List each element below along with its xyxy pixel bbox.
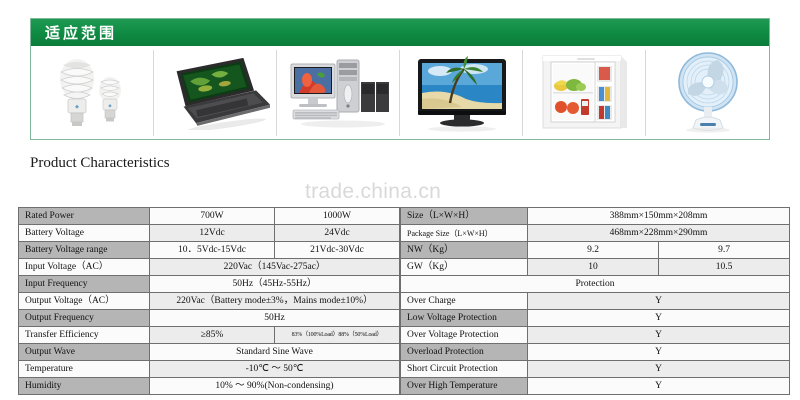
row-value: 9.7 bbox=[659, 242, 790, 259]
banner-title: 适应范围 bbox=[45, 22, 117, 43]
row-value: Standard Sine Wave bbox=[150, 344, 400, 361]
row-value: Y bbox=[528, 361, 790, 378]
table-row: Low Voltage ProtectionY bbox=[401, 310, 790, 327]
desktop-pc-icon bbox=[281, 52, 397, 134]
row-value: 1000W bbox=[275, 208, 400, 225]
row-value: 10% ～ 90%(Non-condensing) bbox=[150, 378, 400, 395]
table-row: Over Voltage ProtectionY bbox=[401, 327, 790, 344]
table-row: Input Frequency50Hz（45Hz-55Hz） bbox=[19, 276, 400, 293]
row-label: Package Size（L×W×H） bbox=[401, 225, 528, 242]
row-label: Battery Voltage bbox=[19, 225, 150, 242]
table-row: Temperature-10℃ ～ 50℃ bbox=[19, 361, 400, 378]
row-value: 10.5 bbox=[659, 259, 790, 276]
table-row: Output WaveStandard Sine Wave bbox=[19, 344, 400, 361]
row-label: Over Charge bbox=[401, 293, 528, 310]
product-image-refrigerator bbox=[523, 46, 646, 140]
row-value: 468mm×228mm×290mm bbox=[528, 225, 790, 242]
row-label: Overload Protection bbox=[401, 344, 528, 361]
row-value: 10．5Vdc-15Vdc bbox=[150, 242, 275, 259]
left-spec-table: Rated Power700W1000WBattery Voltage12Vdc… bbox=[18, 207, 400, 395]
row-label: Output Wave bbox=[19, 344, 150, 361]
row-value: 9.2 bbox=[528, 242, 659, 259]
row-value: 220Vac（Battery mode±3%，Mains mode±10%） bbox=[150, 293, 400, 310]
banner-bar: 适应范围 bbox=[31, 19, 769, 46]
row-label: Output Frequency bbox=[19, 310, 150, 327]
table-row: Battery Voltage12Vdc24Vdc bbox=[19, 225, 400, 242]
row-label: Short Circuit Protection bbox=[401, 361, 528, 378]
row-label: Battery Voltage range bbox=[19, 242, 150, 259]
row-value: Y bbox=[528, 310, 790, 327]
product-image-electric-fan bbox=[646, 46, 769, 140]
television-icon bbox=[410, 53, 514, 133]
svg-text:◆: ◆ bbox=[75, 104, 79, 110]
row-label: Over High Temperature bbox=[401, 378, 528, 395]
row-label: Over Voltage Protection bbox=[401, 327, 528, 344]
row-label: Transfer Efficiency bbox=[19, 327, 150, 344]
table-row: NW（Kg）9.29.7 bbox=[401, 242, 790, 259]
row-label: Input Frequency bbox=[19, 276, 150, 293]
page-title: Product Characteristics bbox=[30, 155, 170, 172]
row-value: Y bbox=[528, 378, 790, 395]
table-row: Size（L×W×H）388mm×150mm×208mm bbox=[401, 208, 790, 225]
table-row: Package Size（L×W×H）468mm×228mm×290mm bbox=[401, 225, 790, 242]
svg-text:◆: ◆ bbox=[108, 104, 112, 109]
laptop-icon bbox=[162, 56, 270, 130]
row-label: Humidity bbox=[19, 378, 150, 395]
table-row: Over ChargeY bbox=[401, 293, 790, 310]
table-row: Input Voltage（AC）220Vac（145Vac-275ac） bbox=[19, 259, 400, 276]
table-row: Output Voltage（AC）220Vac（Battery mode±3%… bbox=[19, 293, 400, 310]
right-spec-table: Size（L×W×H）388mm×150mm×208mmPackage Size… bbox=[400, 207, 790, 395]
row-value: 21Vdc-30Vdc bbox=[275, 242, 400, 259]
refrigerator-icon bbox=[537, 52, 633, 134]
table-row: Rated Power700W1000W bbox=[19, 208, 400, 225]
electric-fan-icon bbox=[665, 50, 751, 136]
row-value: ≥85% bbox=[150, 327, 275, 344]
section-header-cell: Protection bbox=[401, 276, 790, 293]
row-value: 50Hz（45Hz-55Hz） bbox=[150, 276, 400, 293]
row-value: Y bbox=[528, 327, 790, 344]
table-row: Output Frequency50Hz bbox=[19, 310, 400, 327]
table-row: Humidity10% ～ 90%(Non-condensing) bbox=[19, 378, 400, 395]
row-value: 50Hz bbox=[150, 310, 400, 327]
row-value: 700W bbox=[150, 208, 275, 225]
table-row: Overload ProtectionY bbox=[401, 344, 790, 361]
row-value: 12Vdc bbox=[150, 225, 275, 242]
row-value: 10 bbox=[528, 259, 659, 276]
applicable-range-panel: 适应范围 ◆ bbox=[30, 18, 770, 140]
row-value: 24Vdc bbox=[275, 225, 400, 242]
watermark: trade.china.cn bbox=[305, 180, 441, 204]
spec-tables: Rated Power700W1000WBattery Voltage12Vdc… bbox=[18, 207, 788, 395]
table-row: Protection bbox=[401, 276, 790, 293]
table-row: Over High TemperatureY bbox=[401, 378, 790, 395]
product-image-strip: ◆ ◆ bbox=[31, 46, 769, 140]
row-value: 220Vac（145Vac-275ac） bbox=[150, 259, 400, 276]
row-value: 83%（100%Load）88%（50%Load） bbox=[275, 327, 400, 344]
row-label: Size（L×W×H） bbox=[401, 208, 528, 225]
product-image-television bbox=[400, 46, 523, 140]
row-label: NW（Kg） bbox=[401, 242, 528, 259]
product-image-cfl-bulbs: ◆ ◆ bbox=[31, 46, 154, 140]
product-image-laptop bbox=[154, 46, 277, 140]
table-row: Transfer Efficiency≥85%83%（100%Load）88%（… bbox=[19, 327, 400, 344]
table-row: GW（Kg）1010.5 bbox=[401, 259, 790, 276]
table-row: Battery Voltage range10．5Vdc-15Vdc21Vdc-… bbox=[19, 242, 400, 259]
product-image-desktop-pc bbox=[277, 46, 400, 140]
row-value: Y bbox=[528, 293, 790, 310]
cfl-bulbs-icon: ◆ ◆ bbox=[47, 53, 139, 133]
row-label: GW（Kg） bbox=[401, 259, 528, 276]
row-value: 388mm×150mm×208mm bbox=[528, 208, 790, 225]
row-value: Y bbox=[528, 344, 790, 361]
row-label: Rated Power bbox=[19, 208, 150, 225]
row-label: Low Voltage Protection bbox=[401, 310, 528, 327]
row-label: Output Voltage（AC） bbox=[19, 293, 150, 310]
row-value: -10℃ ～ 50℃ bbox=[150, 361, 400, 378]
row-label: Input Voltage（AC） bbox=[19, 259, 150, 276]
table-row: Short Circuit ProtectionY bbox=[401, 361, 790, 378]
row-label: Temperature bbox=[19, 361, 150, 378]
